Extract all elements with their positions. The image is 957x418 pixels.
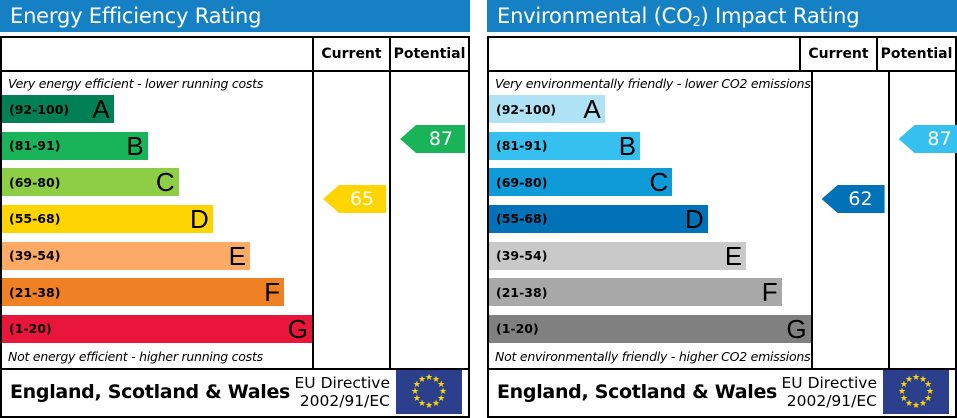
potential-rating-value: 87 [927, 128, 951, 150]
caption-top: Very energy efficient - lower running co… [2, 72, 312, 94]
band-row: (1-20)G [2, 315, 312, 343]
band-row: (55-68)D [2, 205, 312, 233]
band-range-label: (69-80) [2, 175, 60, 190]
band-letter-g: G [288, 316, 308, 342]
eu-flag-star: ★ [912, 402, 920, 410]
band-list: (92-100)A(81-91)B(69-80)C(55-68)D(39-54)… [2, 94, 312, 344]
band-letter-b: B [126, 133, 143, 159]
rating-table: CurrentPotentialVery environmentally fri… [487, 36, 957, 370]
band-f: (21-38)F [489, 278, 782, 306]
band-row: (1-20)G [489, 315, 811, 343]
eu-directive-label: EU Directive2002/91/EC [782, 374, 884, 410]
bands-column: Very environmentally friendly - lower CO… [489, 72, 811, 368]
band-b: (81-91)B [2, 132, 148, 160]
marker-column-current: 62 [811, 72, 888, 368]
band-c: (69-80)C [489, 168, 672, 196]
table-header-row: CurrentPotential [2, 38, 468, 72]
band-row: (81-91)B [489, 132, 811, 160]
band-row: (55-68)D [489, 205, 811, 233]
eu-flag-star: ★ [432, 400, 440, 408]
band-d: (55-68)D [489, 205, 708, 233]
band-list: (92-100)A(81-91)B(69-80)C(55-68)D(39-54)… [489, 94, 811, 344]
table-body: Very energy efficient - lower running co… [2, 72, 468, 368]
band-range-label: (39-54) [2, 248, 60, 263]
potential-rating-arrow: 87 [400, 125, 465, 153]
band-range-label: (55-68) [2, 211, 60, 226]
band-letter-f: F [264, 279, 280, 305]
band-range-label: (69-80) [489, 175, 547, 190]
band-letter-f: F [762, 279, 778, 305]
band-a: (92-100)A [2, 95, 114, 123]
band-e: (39-54)E [489, 242, 746, 270]
band-a: (92-100)A [489, 95, 605, 123]
rating-table: CurrentPotentialVery energy efficient - … [0, 36, 470, 370]
band-letter-g: G [786, 316, 806, 342]
region-label: England, Scotland & Wales [10, 381, 295, 403]
band-row: (21-38)F [2, 278, 312, 306]
band-letter-a: A [583, 96, 600, 122]
eu-flag-star: ★ [919, 400, 927, 408]
bands-column: Very energy efficient - lower running co… [2, 72, 312, 368]
header-potential: Potential [876, 38, 955, 70]
band-range-label: (81-91) [489, 138, 547, 153]
current-rating-arrow: 62 [822, 185, 885, 213]
band-letter-a: A [92, 96, 109, 122]
band-range-label: (21-38) [2, 285, 60, 300]
band-g: (1-20)G [2, 315, 312, 343]
band-letter-d: D [190, 206, 209, 232]
band-range-label: (1-20) [489, 321, 539, 336]
caption-bottom: Not energy efficient - higher running co… [2, 344, 312, 368]
band-range-label: (39-54) [489, 248, 547, 263]
band-row: (21-38)F [489, 278, 811, 306]
band-letter-e: E [229, 243, 246, 269]
region-label: England, Scotland & Wales [497, 381, 782, 403]
current-rating-value: 65 [350, 188, 374, 210]
marker-column-potential: 87 [888, 72, 957, 368]
band-range-label: (1-20) [2, 321, 52, 336]
caption-bottom: Not environmentally friendly - higher CO… [489, 344, 811, 368]
potential-rating-arrow: 87 [899, 125, 957, 153]
band-range-label: (21-38) [489, 285, 547, 300]
caption-top: Very environmentally friendly - lower CO… [489, 72, 811, 94]
marker-column-current: 65 [312, 72, 389, 368]
band-range-label: (55-68) [489, 211, 547, 226]
epc-chart-energy-efficiency: Energy Efficiency RatingCurrentPotential… [0, 0, 470, 404]
band-b: (81-91)B [489, 132, 640, 160]
epc-certificate-page: Energy Efficiency RatingCurrentPotential… [0, 0, 957, 404]
band-row: (69-80)C [2, 168, 312, 196]
header-current: Current [799, 38, 876, 70]
band-row: (39-54)E [489, 242, 811, 270]
band-letter-c: C [156, 169, 175, 195]
band-letter-e: E [725, 243, 742, 269]
band-row: (81-91)B [2, 132, 312, 160]
eu-directive-label: EU Directive2002/91/EC [295, 374, 397, 410]
potential-rating-value: 87 [429, 128, 453, 150]
band-row: (92-100)A [489, 95, 811, 123]
header-blank-cell [2, 38, 312, 70]
header-blank-cell [489, 38, 799, 70]
band-e: (39-54)E [2, 242, 250, 270]
eu-flag-star: ★ [425, 402, 433, 410]
marker-column-potential: 87 [389, 72, 468, 368]
table-header-row: CurrentPotential [489, 38, 955, 72]
band-range-label: (92-100) [489, 102, 556, 117]
chart-title: Environmental (CO2) Impact Rating [487, 0, 957, 32]
band-range-label: (81-91) [2, 138, 60, 153]
band-row: (39-54)E [2, 242, 312, 270]
certificate-footer: England, Scotland & WalesEU Directive200… [0, 368, 470, 418]
band-letter-c: C [650, 169, 669, 195]
table-body: Very environmentally friendly - lower CO… [489, 72, 955, 368]
band-range-label: (92-100) [2, 102, 69, 117]
band-letter-d: D [685, 206, 704, 232]
epc-chart-environmental-impact: Environmental (CO2) Impact RatingCurrent… [487, 0, 957, 404]
eu-flag-star: ★ [905, 376, 913, 384]
band-row: (69-80)C [489, 168, 811, 196]
eu-flag-icon: ★★★★★★★★★★★★ [396, 370, 462, 414]
band-row: (92-100)A [2, 95, 312, 123]
current-rating-arrow: 65 [323, 185, 386, 213]
header-current: Current [312, 38, 389, 70]
band-f: (21-38)F [2, 278, 284, 306]
certificate-footer: England, Scotland & WalesEU Directive200… [487, 368, 957, 418]
current-rating-value: 62 [848, 188, 872, 210]
chart-title: Energy Efficiency Rating [0, 0, 470, 32]
eu-flag-star: ★ [418, 376, 426, 384]
band-d: (55-68)D [2, 205, 213, 233]
band-g: (1-20)G [489, 315, 811, 343]
header-potential: Potential [389, 38, 468, 70]
band-letter-b: B [619, 133, 636, 159]
eu-flag-icon: ★★★★★★★★★★★★ [883, 370, 949, 414]
band-c: (69-80)C [2, 168, 179, 196]
